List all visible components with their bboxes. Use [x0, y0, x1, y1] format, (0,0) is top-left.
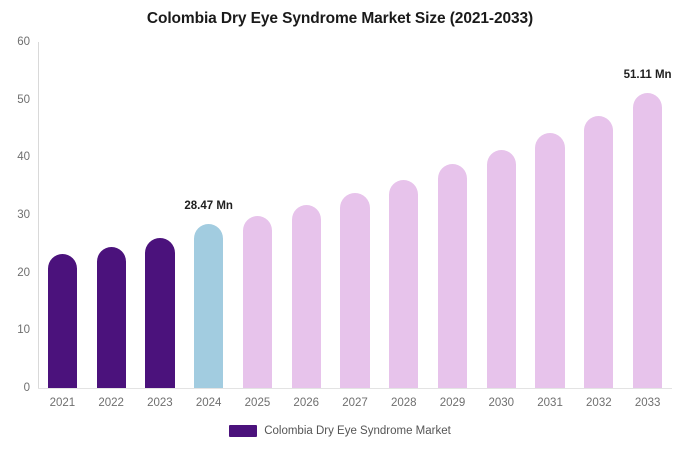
bar-group-2033[interactable]: 51.11 Mn2033: [633, 42, 662, 388]
bar-group-2023[interactable]: 2023: [145, 42, 174, 388]
chart-title: Colombia Dry Eye Syndrome Market Size (2…: [0, 10, 680, 28]
chart-container: Colombia Dry Eye Syndrome Market Size (2…: [0, 0, 680, 450]
bar-2021[interactable]: [48, 254, 77, 388]
x-axis-tick-label-2031: 2031: [537, 397, 563, 409]
bar-group-2029[interactable]: 2029: [438, 42, 467, 388]
x-axis-tick-label-2029: 2029: [440, 397, 466, 409]
x-axis-tick-label-2025: 2025: [245, 397, 271, 409]
bar-2028[interactable]: [389, 180, 418, 388]
bar-2027[interactable]: [340, 193, 369, 388]
bar-group-2026[interactable]: 2026: [292, 42, 321, 388]
x-axis-tick-label-2023: 2023: [147, 397, 173, 409]
plot-area: 0102030405060 20212022202328.47 Mn202420…: [38, 42, 672, 388]
bar-group-2030[interactable]: 2030: [487, 42, 516, 388]
bar-value-label-2024: 28.47 Mn: [184, 200, 233, 212]
bar-2026[interactable]: [292, 205, 321, 388]
bar-group-2032[interactable]: 2032: [584, 42, 613, 388]
bar-value-label-2033: 51.11 Mn: [624, 69, 672, 81]
x-axis-tick-label-2030: 2030: [489, 397, 515, 409]
bar-2033[interactable]: [633, 93, 662, 388]
legend-swatch-icon: [229, 425, 257, 437]
y-axis-tick-label: 0: [24, 382, 30, 394]
bar-group-2027[interactable]: 2027: [340, 42, 369, 388]
bar-2025[interactable]: [243, 216, 272, 388]
bar-group-2024[interactable]: 28.47 Mn2024: [194, 42, 223, 388]
bar-group-2031[interactable]: 2031: [535, 42, 564, 388]
bar-group-2021[interactable]: 2021: [48, 42, 77, 388]
x-axis-line: [38, 388, 672, 389]
bar-2024[interactable]: [194, 224, 223, 388]
x-axis-tick-label-2026: 2026: [293, 397, 319, 409]
bar-2030[interactable]: [487, 150, 516, 388]
bar-2032[interactable]: [584, 116, 613, 388]
y-axis-tick-label: 10: [17, 324, 30, 336]
bar-2023[interactable]: [145, 238, 174, 389]
x-axis-tick-label-2024: 2024: [196, 397, 222, 409]
legend-label: Colombia Dry Eye Syndrome Market: [264, 425, 451, 437]
chart-legend: Colombia Dry Eye Syndrome Market: [0, 425, 680, 437]
bar-group-2028[interactable]: 2028: [389, 42, 418, 388]
bar-group-2022[interactable]: 2022: [97, 42, 126, 388]
y-axis-tick-label: 20: [17, 267, 30, 279]
x-axis-tick-label-2021: 2021: [50, 397, 76, 409]
y-axis-tick-label: 60: [17, 36, 30, 48]
x-axis-tick-label-2032: 2032: [586, 397, 612, 409]
bar-2029[interactable]: [438, 164, 467, 388]
bar-group-2025[interactable]: 2025: [243, 42, 272, 388]
bar-2022[interactable]: [97, 247, 126, 388]
x-axis-tick-label-2022: 2022: [98, 397, 124, 409]
x-axis-tick-label-2027: 2027: [342, 397, 368, 409]
x-axis-tick-label-2033: 2033: [635, 397, 661, 409]
y-axis-tick-label: 50: [17, 94, 30, 106]
y-axis-tick-label: 30: [17, 209, 30, 221]
y-axis-tick-label: 40: [17, 151, 30, 163]
bar-2031[interactable]: [535, 133, 564, 388]
x-axis-tick-label-2028: 2028: [391, 397, 417, 409]
